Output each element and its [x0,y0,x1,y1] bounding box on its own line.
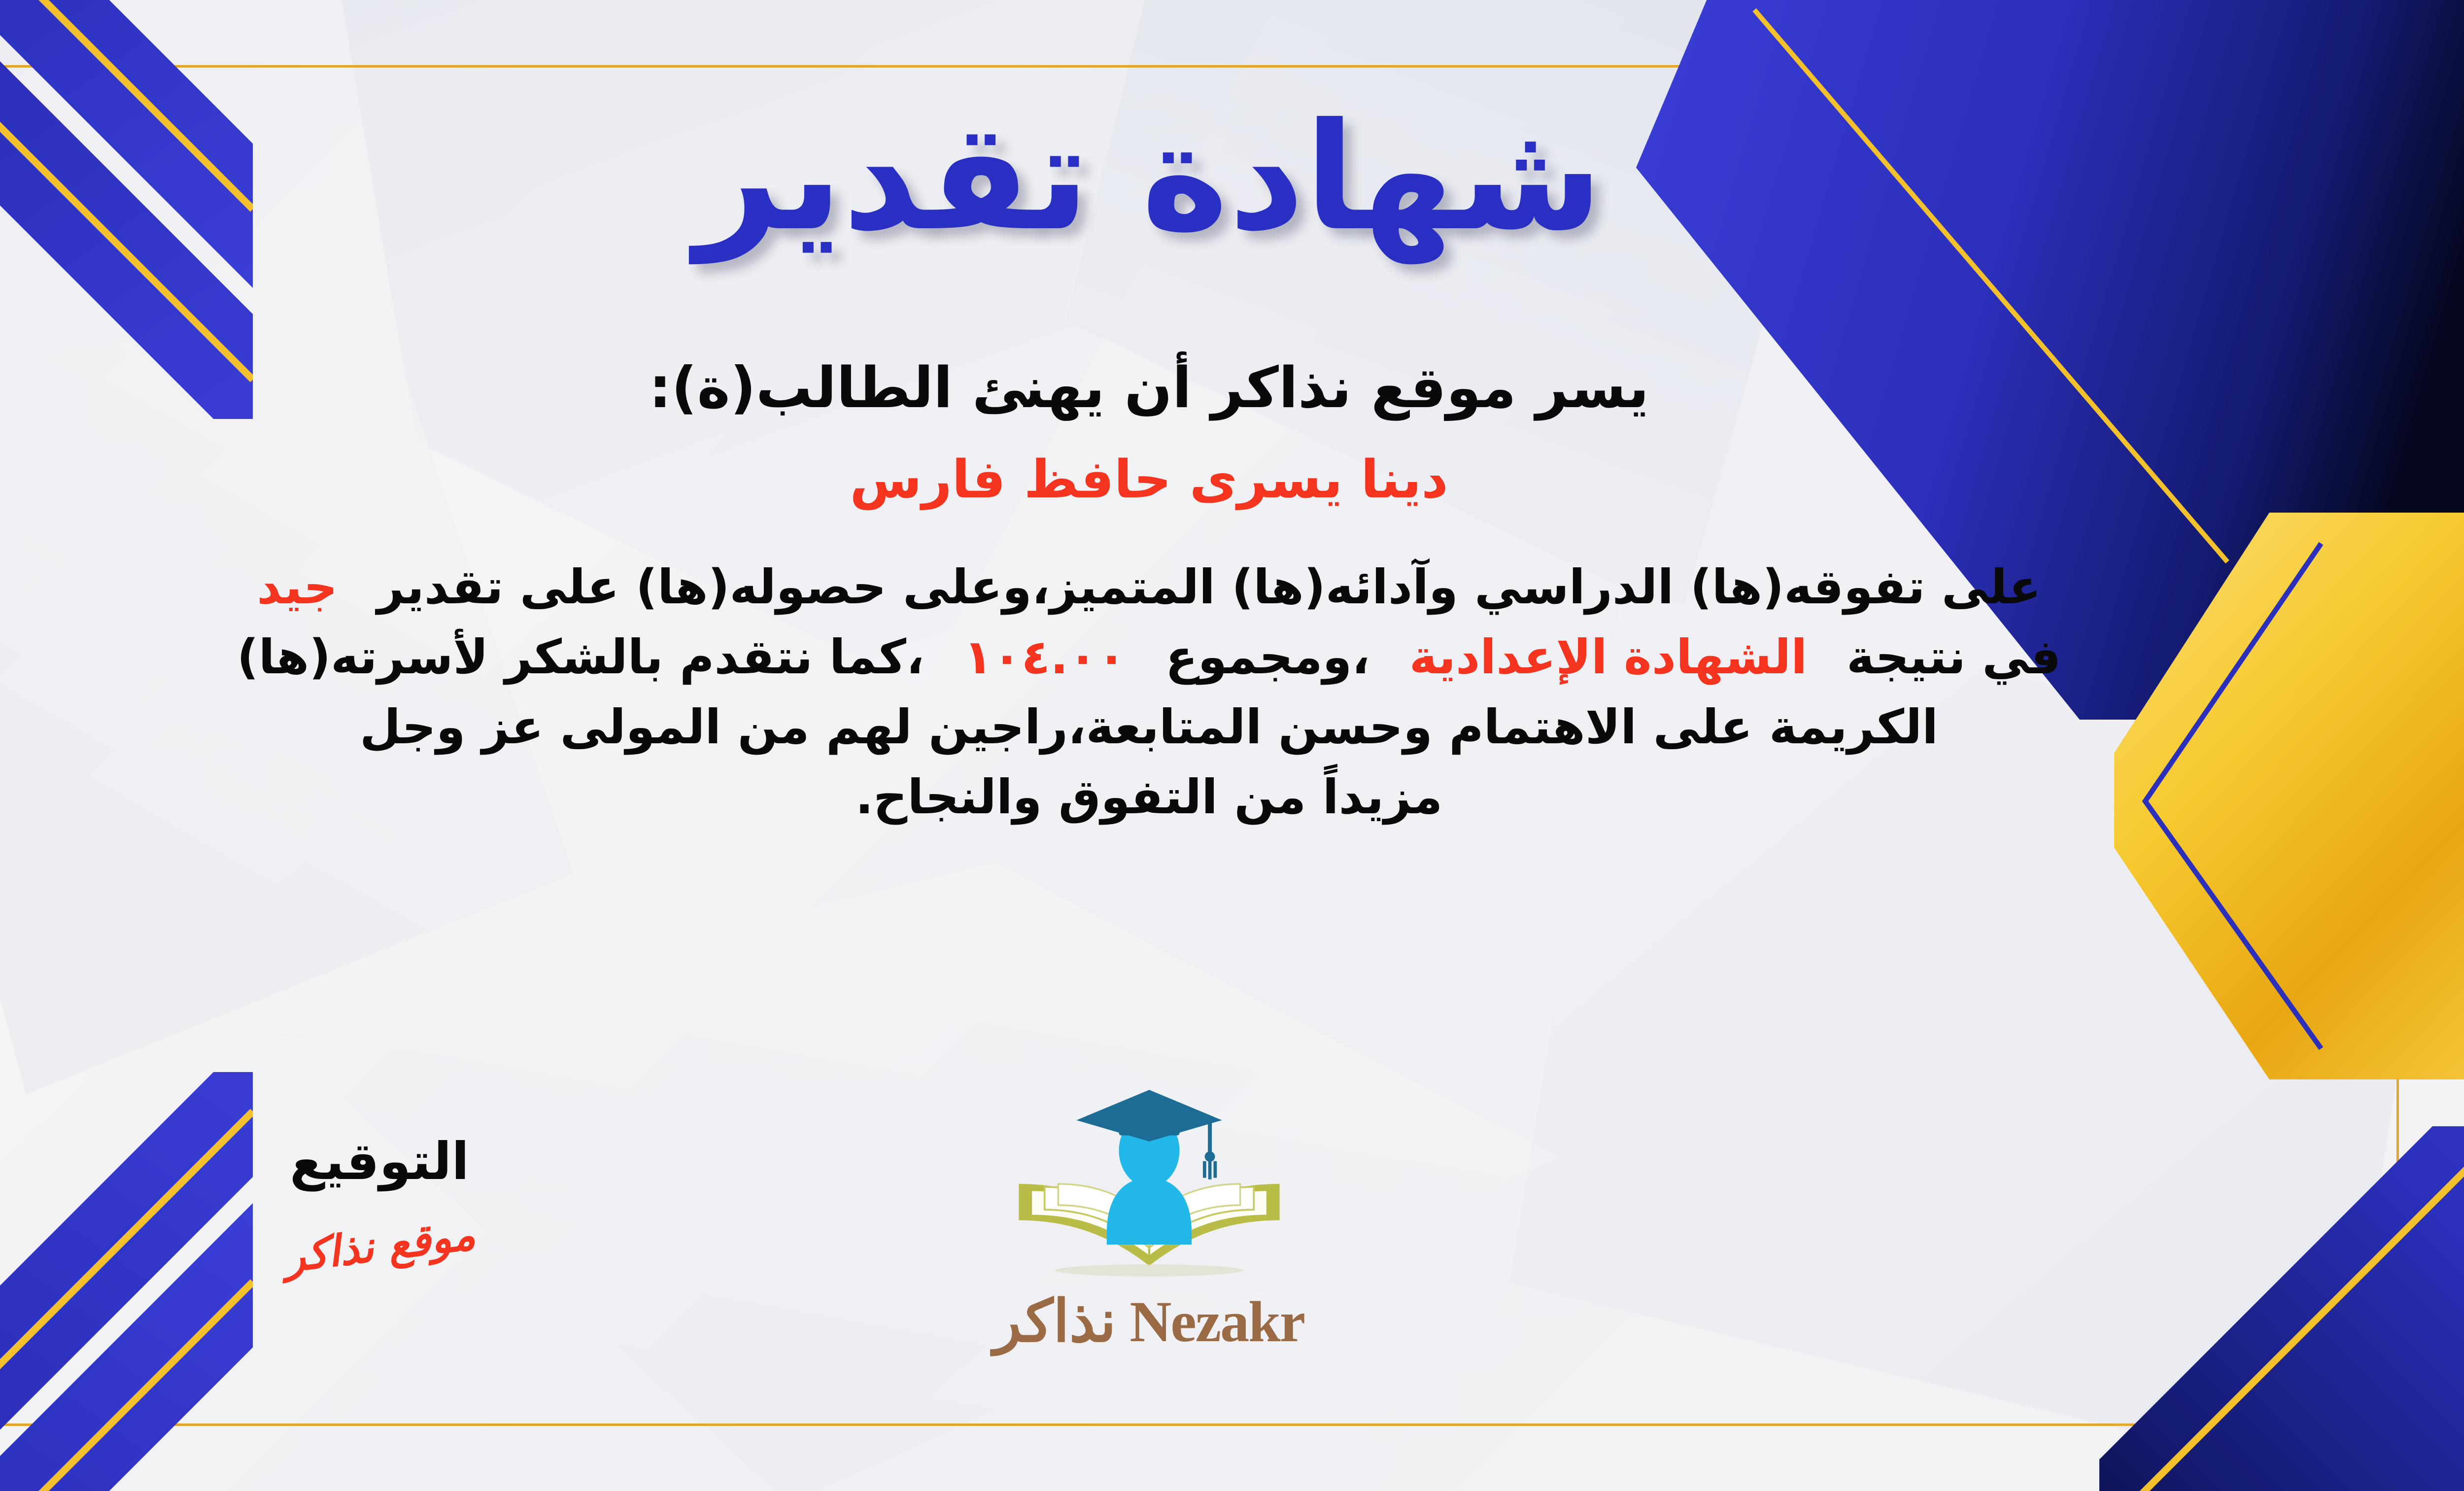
body-line-4: مزيداً من التفوق والنجاح. [65,762,2233,832]
body-line-2-prefix: في نتيجة [1847,629,2061,685]
certificate-body: على تفوقه(ها) الدراسي وآدائه(ها) المتميز… [65,552,2233,832]
signature-handwriting: موقع نذاكر [281,1210,478,1283]
intro-text: يسر موقع نذاكر أن يهنئ الطالب(ة): [649,355,1649,420]
exam-name: الشهادة الإعدادية [1409,629,1807,685]
body-line-2-mid: ،ومجموع [1165,629,1370,685]
body-line-2: في نتيجةالشهادة الإعدادية،ومجموع١٠٤.٠٠،ك… [65,622,2233,692]
body-line-3: الكريمة على الاهتمام وحسن المتابعة،راجين… [65,692,2233,762]
certificate-footer: التوقيع موقع نذاكر [0,1087,2464,1432]
body-line-1-text: على تفوقه(ها) الدراسي وآدائه(ها) المتميز… [377,559,2041,615]
certificate-content: شهادة تقدير يسر موقع نذاكر أن يهنئ الطال… [0,0,2464,1491]
grade-value: جيد [257,559,338,615]
body-line-2-suffix: ،كما نتقدم بالشكر لأسرته(ها) [237,629,924,685]
certificate-page: شهادة تقدير يسر موقع نذاكر أن يهنئ الطال… [0,0,2464,1491]
signature-label: التوقيع [227,1131,532,1191]
student-name: دينا يسرى حافظ فارس [850,449,1448,510]
body-line-1: على تفوقه(ها) الدراسي وآدائه(ها) المتميز… [65,552,2233,622]
logo-wordmark: Nezakr نذاكر [993,1287,1304,1355]
total-score: ١٠٤.٠٠ [963,629,1126,685]
site-logo: Nezakr نذاكر [927,1087,1371,1355]
certificate-title: شهادة تقدير [695,104,1603,251]
title-container: شهادة تقدير [695,74,1603,281]
signature-block: التوقيع موقع نذاكر [227,1131,532,1271]
graduate-book-logo-icon [996,1087,1302,1284]
